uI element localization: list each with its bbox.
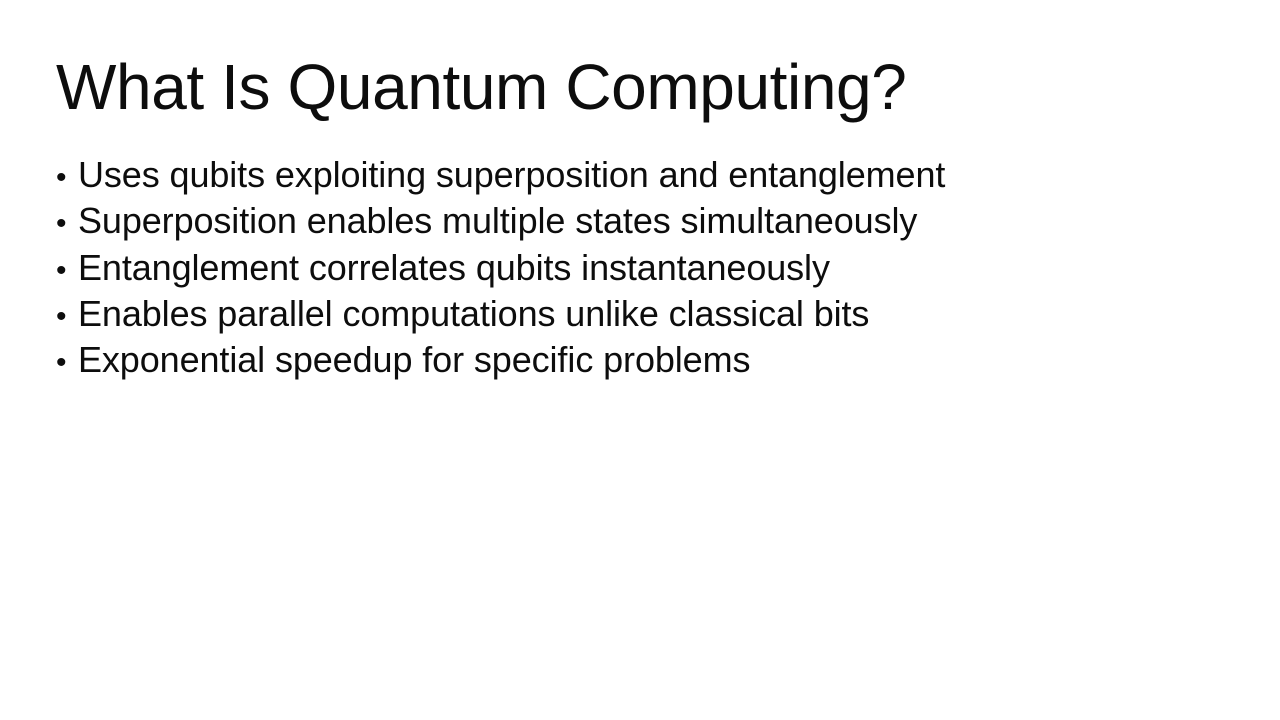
- list-item: • Uses qubits exploiting superposition a…: [56, 152, 1224, 198]
- presentation-slide: What Is Quantum Computing? • Uses qubits…: [0, 0, 1280, 720]
- bullet-point-icon: •: [56, 201, 78, 247]
- list-item-label: Enables parallel computations unlike cla…: [78, 291, 869, 337]
- bullet-list: • Uses qubits exploiting superposition a…: [56, 152, 1224, 383]
- bullet-point-icon: •: [56, 155, 78, 201]
- bullet-point-icon: •: [56, 340, 78, 386]
- list-item: • Entanglement correlates qubits instant…: [56, 245, 1224, 291]
- list-item-label: Uses qubits exploiting superposition and…: [78, 152, 945, 198]
- list-item-label: Exponential speedup for speciﬁc problems: [78, 337, 750, 383]
- bullet-point-icon: •: [56, 248, 78, 294]
- list-item-label: Entanglement correlates qubits instantan…: [78, 245, 830, 291]
- list-item: • Exponential speedup for speciﬁc proble…: [56, 337, 1224, 383]
- bullet-point-icon: •: [56, 294, 78, 340]
- list-item: • Enables parallel computations unlike c…: [56, 291, 1224, 337]
- slide-title: What Is Quantum Computing?: [56, 48, 1216, 126]
- list-item: • Superposition enables multiple states …: [56, 198, 1224, 244]
- list-item-label: Superposition enables multiple states si…: [78, 198, 917, 244]
